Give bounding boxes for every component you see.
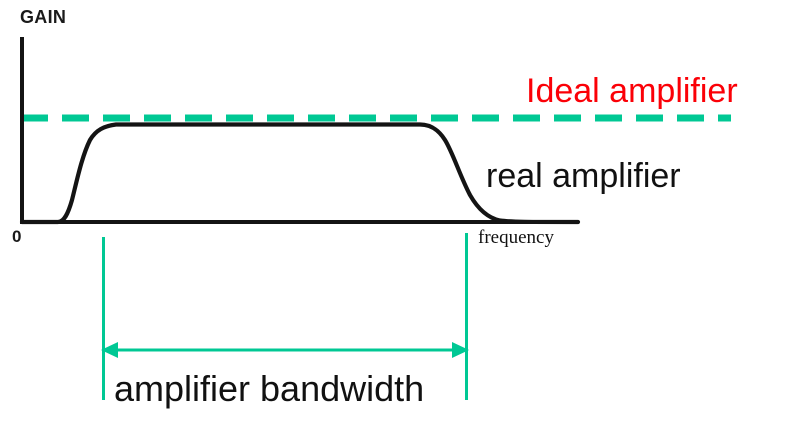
amplifier-gain-bandwidth-figure: GAIN 0 frequency Ideal amplifier real am… [0,0,786,440]
real-amplifier-label: real amplifier [486,159,681,193]
x-axis-label: frequency [478,228,554,247]
ideal-amplifier-label: Ideal amplifier [526,74,738,108]
y-axis-label: GAIN [20,8,66,26]
origin-label: 0 [12,228,21,245]
amplifier-bandwidth-label: amplifier bandwidth [114,371,424,407]
